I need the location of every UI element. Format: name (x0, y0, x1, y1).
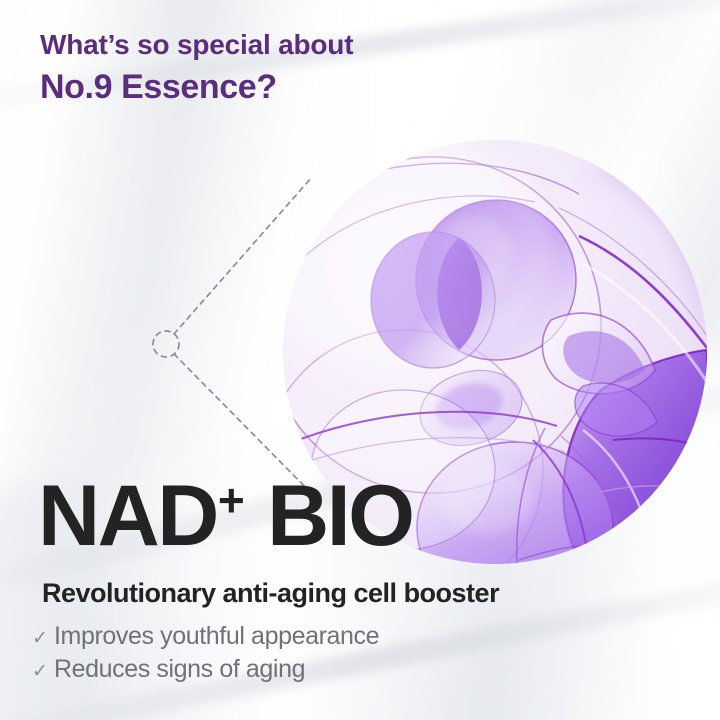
benefit-label: Reduces signs of aging (54, 653, 305, 686)
product-name-main: NAD (38, 468, 217, 564)
benefit-item: ✓ Improves youthful appearance (32, 620, 379, 653)
product-name-suffix: BIO (246, 468, 413, 564)
benefit-label: Improves youthful appearance (54, 620, 379, 653)
product-name-superscript: + (218, 474, 244, 526)
check-icon: ✓ (32, 659, 54, 684)
headline-line-1: What’s so special about (40, 28, 353, 61)
product-feature-banner: What’s so special about No.9 Essence? (0, 0, 720, 720)
benefit-item: ✓ Reduces signs of aging (32, 653, 379, 686)
product-name: NAD+ BIO (38, 473, 413, 559)
benefit-list: ✓ Improves youthful appearance ✓ Reduces… (32, 620, 379, 686)
headline-block: What’s so special about No.9 Essence? (40, 28, 353, 108)
check-icon: ✓ (32, 626, 54, 651)
headline-line-2: No.9 Essence? (40, 67, 353, 108)
product-tagline: Revolutionary anti-aging cell booster (42, 578, 499, 609)
